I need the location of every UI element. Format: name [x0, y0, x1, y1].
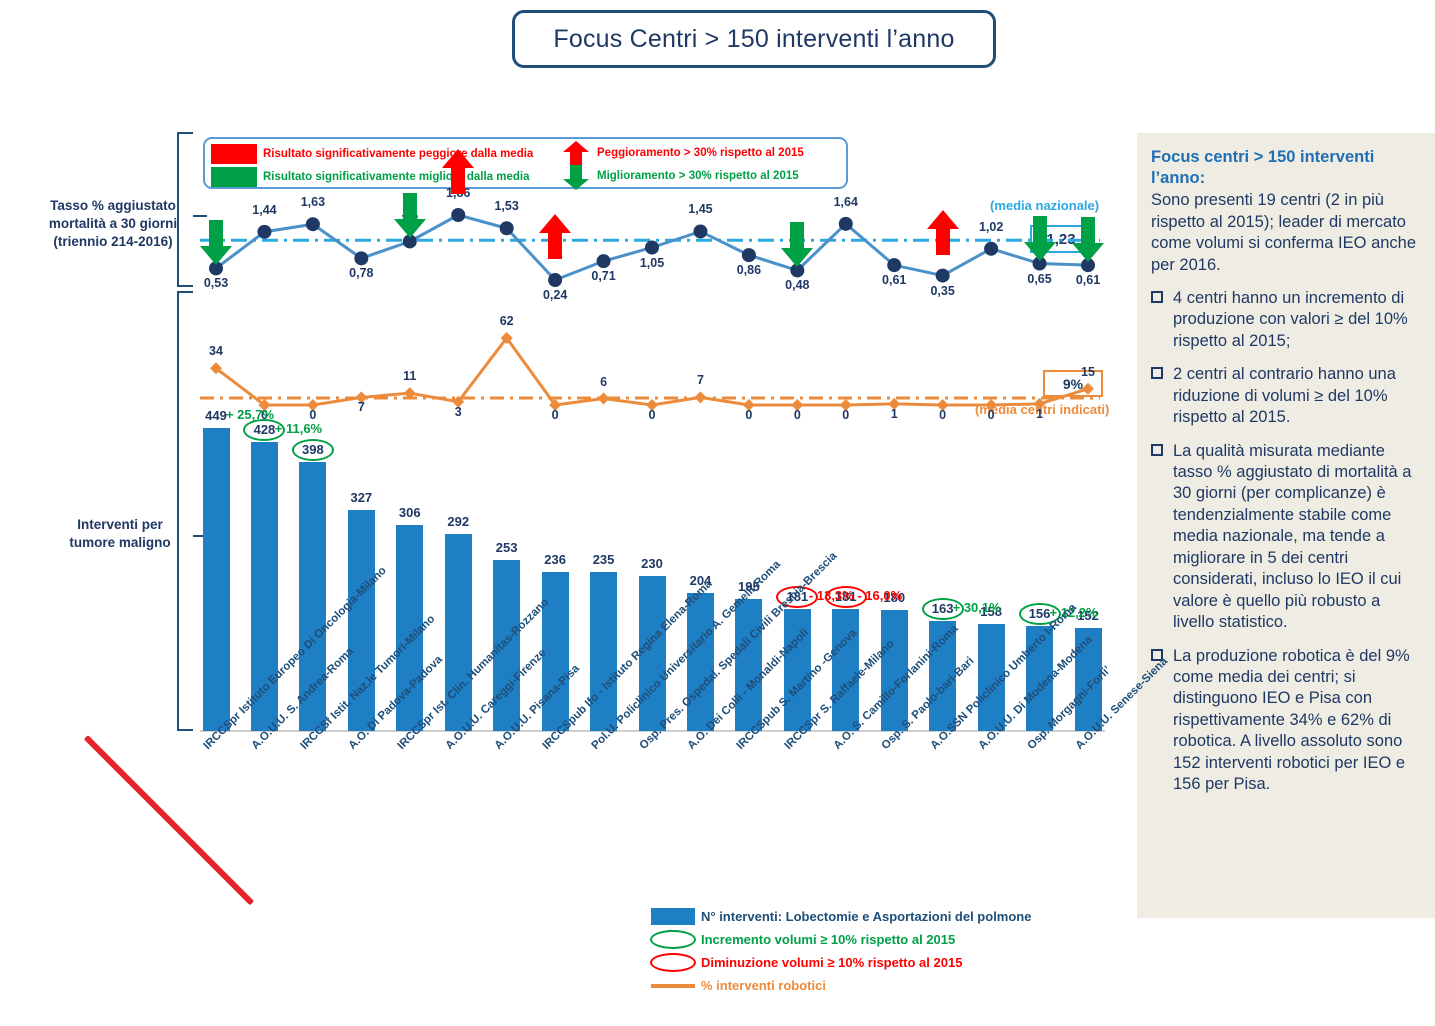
legend-item-label: % interventi robotici [701, 978, 826, 993]
arrow-down-green-icon [780, 222, 814, 267]
checkbox-bullet-icon [1151, 367, 1163, 379]
legend-worsening-label: Peggioramento > 30% rispetto al 2015 [597, 147, 804, 159]
robotic-point-label: 1 [891, 407, 898, 421]
category-label: IRCCSf Istit. Naz.le Tumori-Milano [298, 613, 437, 752]
bar [396, 525, 423, 731]
volume-change-label: + 30,1% [953, 600, 1001, 615]
category-label: Pol.U. Policlinico Universitario A. Geme… [589, 559, 782, 752]
bar-value-label: 152 [1077, 608, 1099, 623]
bar [1075, 628, 1102, 731]
mortality-point-label: 1,05 [640, 256, 664, 270]
mortality-point-label: 0,65 [1027, 272, 1051, 286]
bar-value-label: 156 [1029, 606, 1051, 621]
bracket-mortality [177, 132, 193, 287]
legend-item-label: Incremento volumi ≥ 10% rispetto al 2015 [701, 932, 955, 947]
list-item-label: La produzione robotica è del 9% come med… [1173, 647, 1410, 794]
checkbox-bullet-icon [1151, 649, 1163, 661]
mortality-point-label: 0,86 [737, 263, 761, 277]
legend-improving-label: Miglioramento > 30% rispetto al 2015 [597, 170, 799, 182]
checkbox-bullet-icon [1151, 444, 1163, 456]
robotic-point-label: 3 [455, 405, 462, 419]
legend-row-worse: Risultato significativamente peggiore da… [211, 143, 533, 164]
bar [445, 534, 472, 731]
robotic-point-label: 0 [649, 408, 656, 422]
category-label: Osp. Pres. Ospedal. Spedali Civili Bresc… [638, 550, 840, 752]
mortality-point-label: 1,64 [834, 195, 858, 209]
bar-value-highlight-ellipse [292, 439, 334, 461]
bracket-interventions-tick [193, 535, 207, 537]
bar-value-label: 306 [399, 505, 421, 520]
bar-value-label: 163 [932, 601, 954, 616]
chart-canvas: Tasso % aggiustato mortalità a 30 giorni… [0, 80, 1137, 1026]
robotic-point-label: 0 [745, 408, 752, 422]
green-ellipse-icon [645, 930, 701, 949]
red-swatch-icon [211, 144, 257, 164]
mortality-point-label: 1,02 [979, 220, 1003, 234]
category-label: A.O.U.U. Pisana-Pisa [492, 663, 581, 752]
category-label: Osp. S. Paolo-bari-Bari [880, 655, 977, 752]
robotic-point-label: 0 [309, 408, 316, 422]
bar-value-label: 327 [350, 490, 372, 505]
legend-worse-label: Risultato significativamente peggiore da… [263, 148, 533, 160]
category-label: IRCCSpub Ifo - Istituto Regina Elena-Rom… [541, 578, 715, 752]
volume-change-label: + 11,6% [275, 421, 322, 436]
legend-significance: Risultato significativamente peggiore da… [203, 137, 848, 189]
bar-value-label: 195 [738, 579, 760, 594]
legend-item-decrease: Diminuzione volumi ≥ 10% rispetto al 201… [645, 952, 1065, 973]
bar-value-label: 158 [980, 604, 1002, 619]
bar-value-label: 398 [302, 442, 324, 457]
bar-value-highlight-ellipse [1019, 603, 1061, 625]
blue-square-icon [645, 908, 701, 925]
bar [784, 609, 811, 731]
category-label: A.O.U.U. Di Modena-Modena [977, 634, 1095, 752]
robotic-point-label: 34 [209, 344, 223, 358]
bar [1026, 626, 1053, 731]
bar-value-label: 204 [690, 573, 712, 588]
checkbox-bullet-icon [1151, 291, 1163, 303]
mortality-point-label: 0,35 [930, 284, 954, 298]
robotic-point-label: 0 [261, 408, 268, 422]
bracket-mortality-tick [193, 215, 207, 217]
arrow-up-red-icon [562, 141, 590, 166]
bar [881, 610, 908, 731]
bar [590, 572, 617, 731]
info-panel-intro: Sono presenti 19 centri (2 in più rispet… [1151, 190, 1419, 276]
robotic-point-label: 11 [403, 369, 416, 383]
bar-value-label: 292 [447, 514, 469, 529]
robotic-point-label: 0 [552, 408, 559, 422]
mortality-point-label: 0,71 [591, 269, 615, 283]
robotic-point-label: 0 [794, 408, 801, 422]
mortality-point-label: 0,78 [349, 266, 373, 280]
arrow-down-green-icon [393, 193, 427, 238]
arrow-up-red-icon [926, 210, 960, 255]
media-centri-value: 9% [1043, 370, 1103, 397]
mortality-point-label: 1,44 [252, 203, 276, 217]
bar-value-label: 449 [205, 408, 227, 423]
bar [639, 576, 666, 731]
legend-item-label: Diminuzione volumi ≥ 10% rispetto al 201… [701, 955, 962, 970]
bar-value-label: 230 [641, 556, 663, 571]
info-panel-header: Focus centri > 150 interventi l’anno: [1151, 147, 1419, 189]
bar-value-highlight-ellipse [243, 419, 285, 441]
category-label: IRCCSpr Ist. Clin. Humanitas-Rozzano [395, 596, 551, 752]
category-label: A.O.U.U. S. Andrea-Roma [250, 645, 357, 752]
category-label: Osp. Morgagni-Forli’ [1025, 664, 1113, 752]
legend-better-label: Risultato significativamente migliore da… [263, 171, 530, 183]
mortality-point-label: 1,45 [688, 202, 712, 216]
bracket-interventions [177, 291, 193, 731]
bar-value-label: 428 [254, 422, 276, 437]
bar-value-label: 236 [544, 552, 566, 567]
bar [832, 609, 859, 731]
category-label: IRCCSpr S. Raffaele-Milano [783, 638, 897, 752]
bar-value-label: 181 [835, 589, 857, 604]
bar-value-highlight-ellipse [825, 586, 867, 608]
page-title-box: Focus Centri > 150 interventi l’anno [512, 10, 996, 68]
media-nazionale-caption: (media nazionale) [990, 198, 1099, 213]
bar [348, 510, 375, 731]
category-label: A.O. Di Padova-Padova [347, 654, 445, 752]
media-nazionale-value: 1,23 [1030, 225, 1092, 253]
legend-item-interventions: N° interventi: Lobectomie e Asportazioni… [645, 906, 1065, 927]
mortality-point-label: 0,61 [1076, 273, 1100, 287]
bar [735, 599, 762, 731]
legend-row-better: Risultato significativamente migliore da… [211, 166, 530, 187]
list-item-label: 2 centri al contrario hanno una riduzion… [1173, 365, 1396, 426]
mortality-point-label: 1,53 [494, 199, 518, 213]
category-label: A.O. Dei Colli - Monaldi-Napoli [686, 626, 812, 752]
mortality-point-label: 0,61 [882, 273, 906, 287]
bar [542, 572, 569, 731]
legend-item-robotic: % interventi robotici [645, 975, 1065, 996]
volume-change-label: - 13,3% [809, 588, 854, 603]
media-centri-caption: (media centri indicati) [975, 402, 1109, 417]
category-label: A.O. S. Camillo-Forlanini-Roma [831, 623, 960, 752]
volume-change-label: + 12,2% [1050, 605, 1098, 620]
robotic-point-label: 7 [697, 373, 704, 387]
bar [929, 621, 956, 731]
page-title: Focus Centri > 150 interventi l’anno [553, 25, 954, 54]
robotic-point-label: 0 [842, 408, 849, 422]
bar [493, 560, 520, 731]
arrow-up-red-icon [538, 214, 572, 259]
orange-line-icon [645, 984, 701, 988]
category-label: IRCCSpr Istituto Europeo Di Oncologia-Mi… [202, 565, 389, 752]
category-label: A.O.SSN Policlinico Umberto I-Roma [928, 602, 1078, 752]
info-panel-bullet-list: 4 centri hanno un incremento di produzio… [1151, 288, 1419, 796]
bar-value-highlight-ellipse [776, 586, 818, 608]
volume-change-label: + 25,7% [226, 407, 274, 422]
bar [978, 624, 1005, 731]
green-swatch-icon [211, 167, 257, 187]
bar-value-label: 180 [883, 590, 905, 605]
category-label: IRCCSpub S. Martino -Genova [734, 627, 859, 752]
list-item: La produzione robotica è del 9% come med… [1151, 646, 1419, 796]
red-diagonal-highlight [84, 735, 254, 905]
bar [251, 442, 278, 731]
volume-change-label: - 16,0% [857, 588, 902, 603]
bar-value-label: 181 [786, 589, 808, 604]
mortality-point-label: 1,63 [301, 195, 325, 209]
bar-value-label: 253 [496, 540, 518, 555]
list-item: La qualità misurata mediante tasso % agg… [1151, 441, 1419, 634]
bar [687, 593, 714, 731]
mortality-point-label: 0,53 [204, 276, 228, 290]
list-item-label: La qualità misurata mediante tasso % agg… [1173, 442, 1411, 632]
bar [299, 462, 326, 731]
mortality-point-label: 0,48 [785, 278, 809, 292]
mortality-point-label: 1,2 [401, 212, 418, 226]
list-item-label: 4 centri hanno un incremento di produzio… [1173, 289, 1408, 350]
legend-item-increase: Incremento volumi ≥ 10% rispetto al 2015 [645, 929, 1065, 950]
bar-value-label: 235 [593, 552, 615, 567]
mortality-point-label: 0,24 [543, 288, 567, 302]
robotic-point-label: 0 [939, 408, 946, 422]
category-label: A.O.U.U. Careggi-Firenze [444, 647, 549, 752]
red-ellipse-icon [645, 953, 701, 972]
legend-series: N° interventi: Lobectomie e Asportazioni… [645, 906, 1065, 998]
robotic-point-label: 62 [500, 314, 514, 328]
info-panel: Focus centri > 150 interventi l’anno: So… [1137, 133, 1435, 918]
bar-value-highlight-ellipse [922, 598, 964, 620]
list-item: 2 centri al contrario hanno una riduzion… [1151, 364, 1419, 428]
robotic-point-label: 7 [358, 400, 365, 414]
bar [203, 428, 230, 731]
list-item: 4 centri hanno un incremento di produzio… [1151, 288, 1419, 352]
arrow-down-green-icon [562, 165, 590, 190]
robotic-point-label: 6 [600, 375, 607, 389]
legend-item-label: N° interventi: Lobectomie e Asportazioni… [701, 909, 1031, 924]
